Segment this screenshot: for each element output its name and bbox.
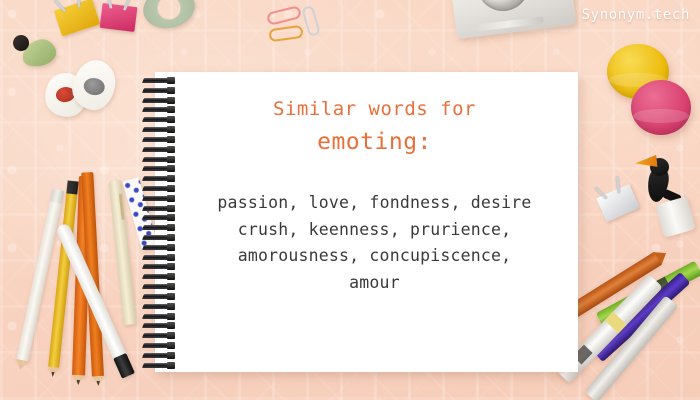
synonym-line: amorousness, concupiscence, (201, 243, 548, 270)
synonym-line: crush, keenness, prurience, (201, 217, 548, 244)
eraser-gray-dot (82, 76, 106, 96)
camera-lens (474, 0, 532, 14)
synonym-list: passion, love, fondness, desire crush, k… (201, 190, 548, 297)
toucan-sticker (636, 152, 682, 206)
synonym-line: passion, love, fondness, desire (201, 190, 548, 217)
camera-grip (474, 16, 544, 31)
page-content: Similar words for emoting: passion, love… (155, 72, 578, 372)
site-watermark: Synonym.tech (582, 7, 690, 23)
macaron-pink (631, 80, 691, 135)
synonym-line: amour (201, 270, 548, 297)
notebook-page: Similar words for emoting: passion, love… (155, 72, 578, 372)
binder-clip-pink (100, 3, 138, 32)
page-title-prefix: Similar words for (201, 98, 548, 122)
query-word: emoting: (201, 126, 548, 158)
